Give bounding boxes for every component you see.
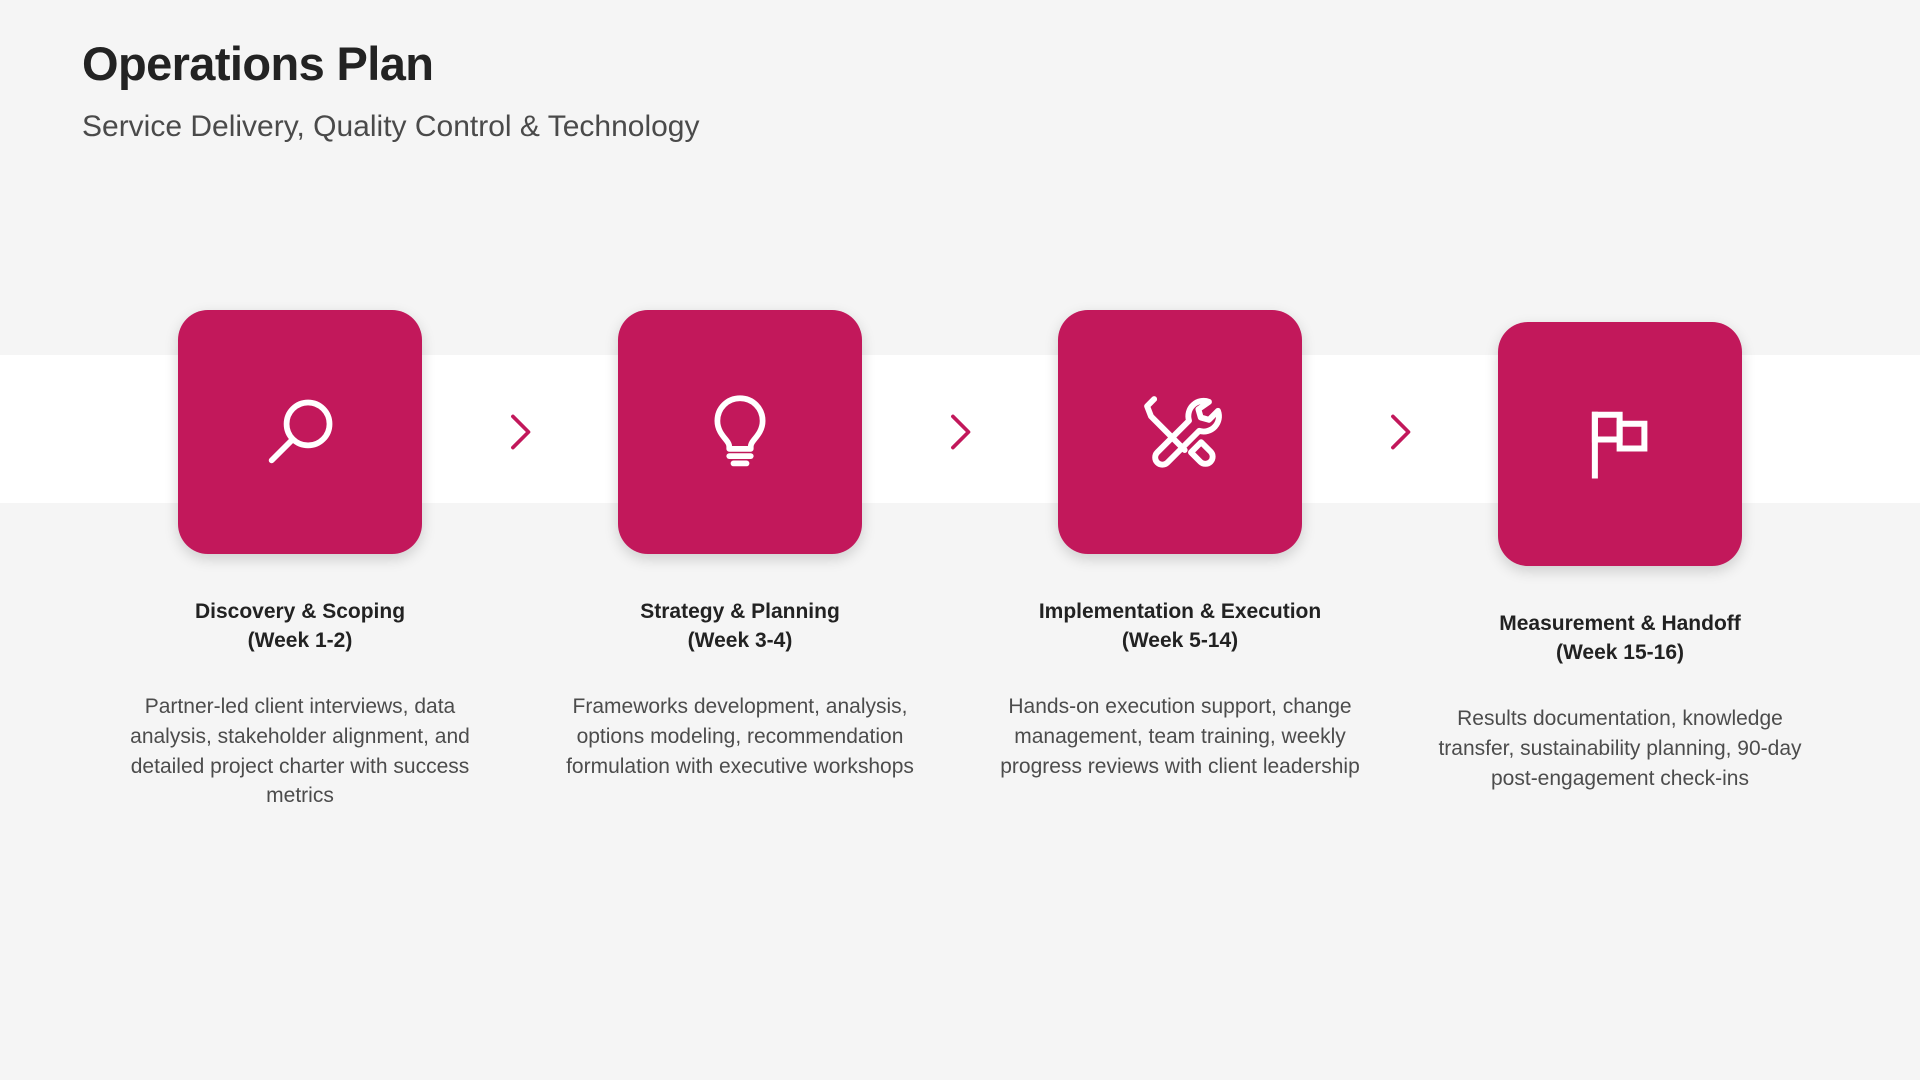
process-step-4[interactable]: Measurement & Handoff (Week 15-16) Resul… [1437,310,1803,793]
process-step-3[interactable]: Implementation & Execution (Week 5-14) H… [997,310,1363,781]
slide-canvas: Operations Plan Service Delivery, Qualit… [0,0,1920,1080]
step-title-3: Implementation & Execution (Week 5-14) [1039,598,1321,656]
step-title-1: Discovery & Scoping (Week 1-2) [195,598,405,656]
process-step-2[interactable]: Strategy & Planning (Week 3-4) Framework… [557,310,923,781]
process-step-1[interactable]: Discovery & Scoping (Week 1-2) Partner-l… [117,310,483,811]
slide-header: Operations Plan Service Delivery, Qualit… [82,38,700,145]
step-icon-tile-3[interactable] [1058,310,1302,554]
step-description-4: Results documentation, knowledge transfe… [1437,704,1803,793]
step-title-4: Measurement & Handoff (Week 15-16) [1499,610,1741,668]
step-icon-tile-2[interactable] [618,310,862,554]
flag-icon [1575,399,1665,489]
step-connector-3 [1363,310,1437,554]
step-icon-tile-4[interactable] [1498,322,1742,566]
tools-icon [1133,385,1227,479]
chevron-right-icon [503,409,537,455]
step-description-3: Hands-on execution support, change manag… [997,692,1363,781]
process-flow: Discovery & Scoping (Week 1-2) Partner-l… [0,310,1920,811]
step-icon-tile-1[interactable] [178,310,422,554]
step-description-2: Frameworks development, analysis, option… [557,692,923,781]
lightbulb-icon [694,386,786,478]
step-connector-2 [923,310,997,554]
step-description-1: Partner-led client interviews, data anal… [117,692,483,811]
chevron-right-icon [1383,409,1417,455]
step-title-2: Strategy & Planning (Week 3-4) [640,598,840,656]
page-subtitle: Service Delivery, Quality Control & Tech… [82,109,700,145]
step-connector-1 [483,310,557,554]
page-title: Operations Plan [82,38,700,91]
chevron-right-icon [943,409,977,455]
magnifier-icon [254,386,346,478]
